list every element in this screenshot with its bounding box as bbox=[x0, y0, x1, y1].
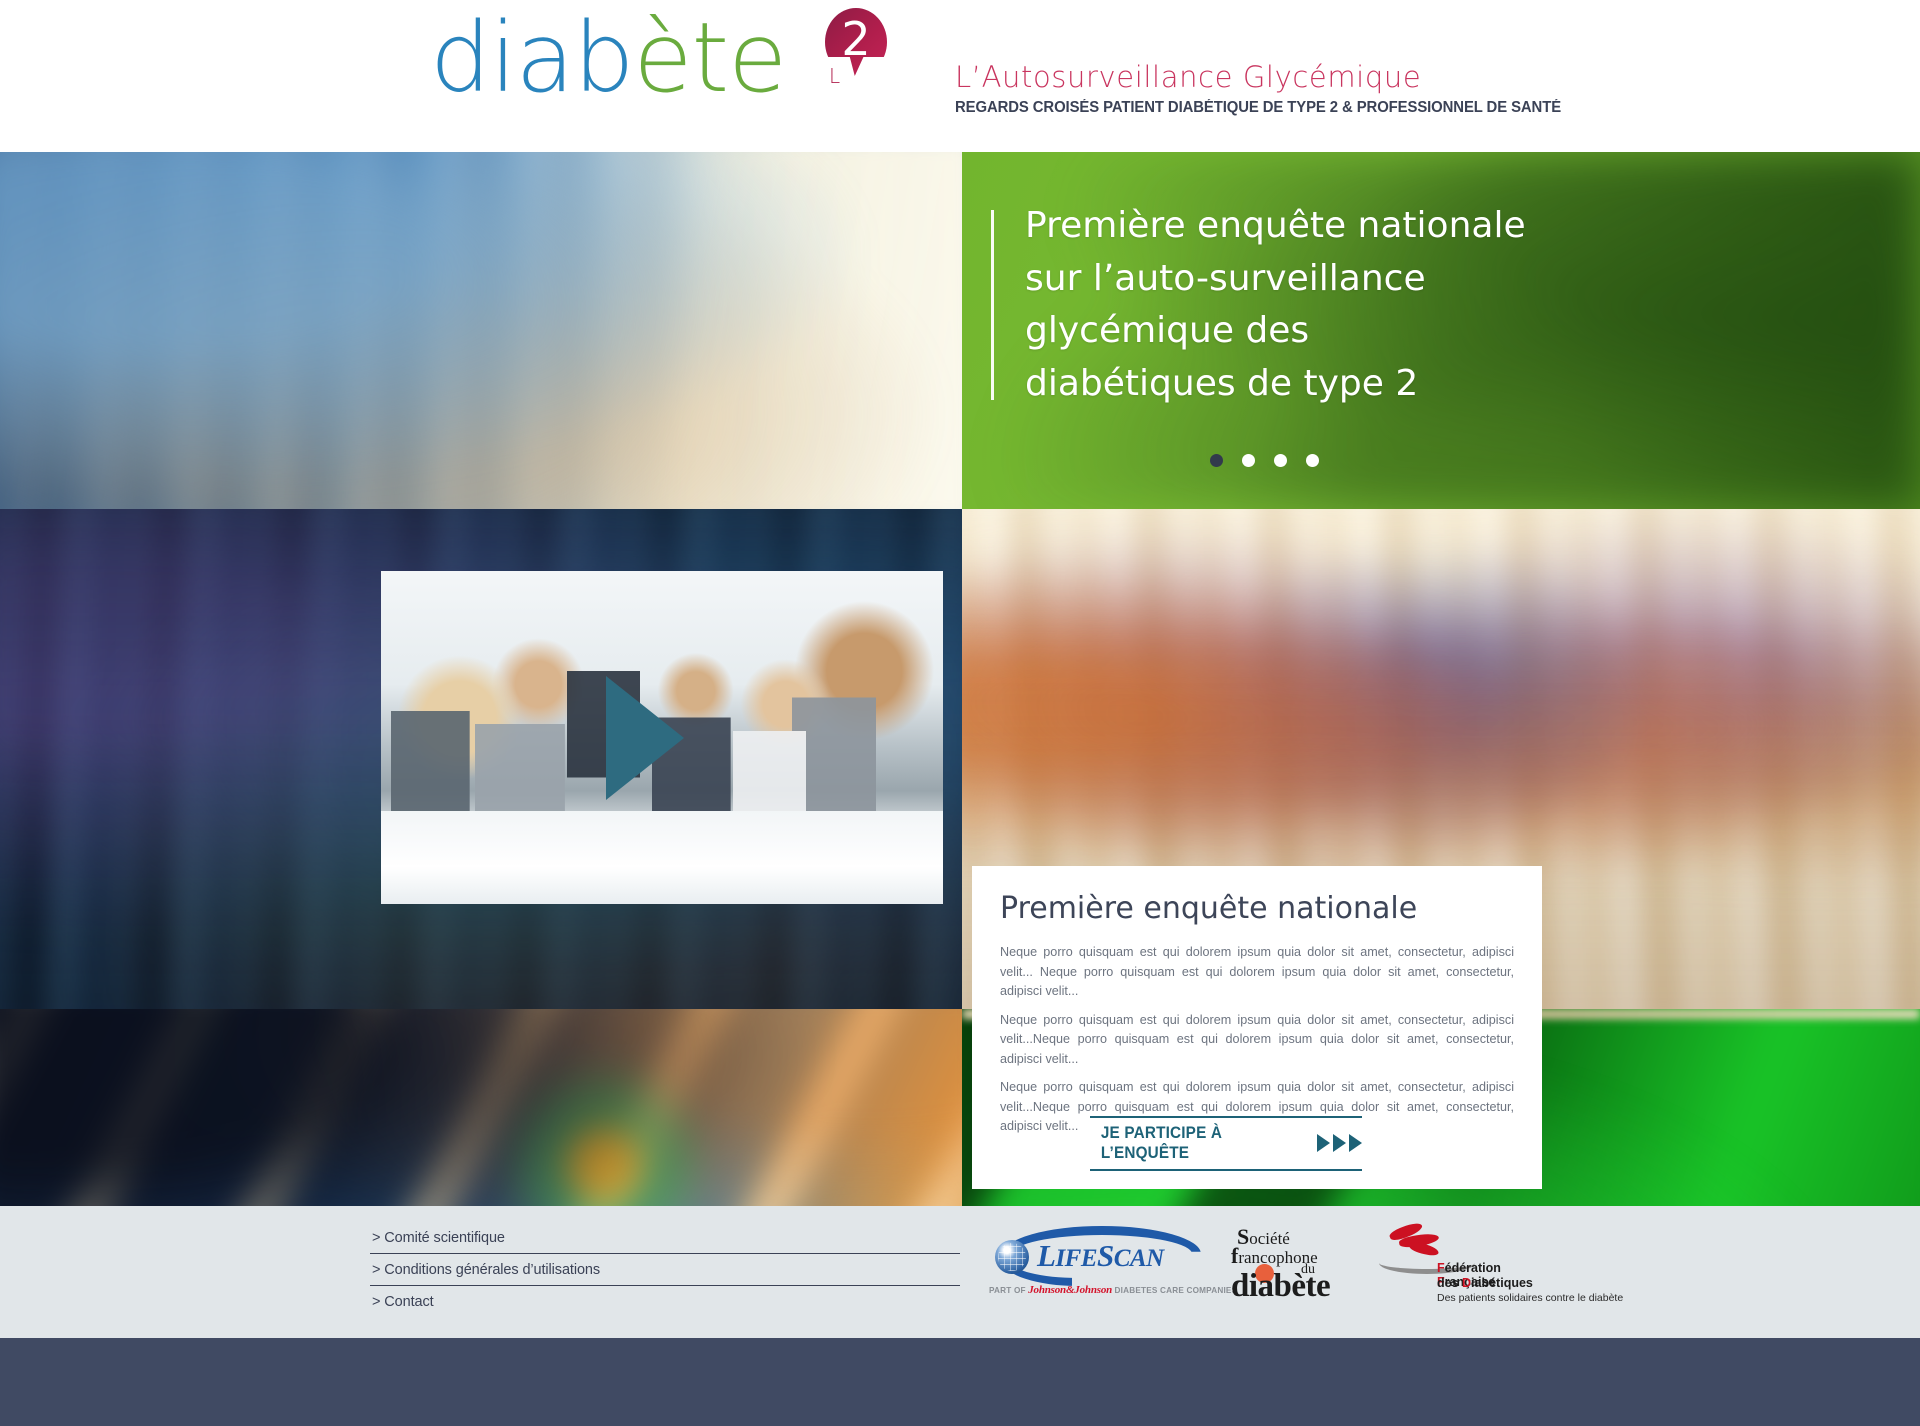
site-footer: > Comité scientifique > Conditions génér… bbox=[0, 1206, 1920, 1338]
participate-survey-label: JE PARTICIPE À L’ENQUÊTE bbox=[1101, 1123, 1296, 1163]
hero-accent-rule bbox=[991, 210, 994, 400]
lifescan-name-ife: IFE bbox=[1055, 1245, 1097, 1272]
hero-title-line-3: glycémique des bbox=[1025, 305, 1585, 358]
logo-wordmark: diabète bbox=[430, 10, 786, 106]
ffd-l1-a: F bbox=[1437, 1261, 1445, 1275]
card-title: Première enquête nationale bbox=[1000, 892, 1514, 925]
logo-superscript-number: 2 bbox=[841, 16, 870, 62]
logo-word-part1: diab bbox=[430, 2, 633, 114]
ffd-l2-b: D bbox=[1462, 1276, 1471, 1290]
carousel-dot-2[interactable] bbox=[1242, 454, 1255, 467]
participate-survey-button[interactable]: JE PARTICIPE À L’ENQUÊTE bbox=[1090, 1116, 1362, 1171]
hero-title-line-1: Première enquête nationale bbox=[1025, 200, 1585, 253]
page-root: diabète 2 L L’Autosurveillance Glycémiqu… bbox=[0, 0, 1920, 1426]
site-header: diabète 2 L L’Autosurveillance Glycémiqu… bbox=[0, 0, 1920, 152]
ffd-l2-a: des bbox=[1437, 1276, 1462, 1290]
hero-content: Première enquête nationale sur l’auto-su… bbox=[991, 200, 1920, 509]
site-logo[interactable]: diabète 2 L bbox=[430, 6, 900, 136]
lifescan-tagline-before: PART OF bbox=[989, 1286, 1026, 1295]
ffd-line-3: Des patients solidaires contre le diabèt… bbox=[1437, 1292, 1623, 1304]
lifescan-name-l: L bbox=[1037, 1238, 1055, 1273]
play-icon[interactable] bbox=[606, 676, 684, 800]
hero-banner: Première enquête nationale sur l’auto-su… bbox=[962, 152, 1920, 509]
globe-icon bbox=[995, 1240, 1029, 1274]
footer-link-comite-scientifique[interactable]: > Comité scientifique bbox=[370, 1222, 960, 1254]
lifescan-tagline: PART OF Johnson&Johnson DIABETES CARE CO… bbox=[989, 1284, 1237, 1296]
hero-title-line-2: sur l’auto-surveillance bbox=[1025, 253, 1585, 306]
sfd-logo[interactable]: Société francophone du diabète bbox=[1231, 1224, 1355, 1302]
ffd-line-2: des Diabétiques bbox=[1437, 1276, 1533, 1290]
logo-l-mark: L bbox=[829, 64, 840, 88]
ffd-l2-c: iabétiques bbox=[1471, 1276, 1533, 1290]
logo-word-part2: ète bbox=[633, 2, 786, 114]
footer-link-conditions-generales[interactable]: > Conditions générales d’utilisations bbox=[370, 1254, 960, 1286]
footer-links: > Comité scientifique > Conditions génér… bbox=[370, 1222, 960, 1317]
header-tagline: L’Autosurveillance Glycémique REGARDS CR… bbox=[955, 62, 1695, 117]
lifescan-name-can: CAN bbox=[1114, 1245, 1164, 1272]
mosaic-grid: Première enquête nationale sur l’auto-su… bbox=[0, 152, 1920, 1206]
card-paragraph: Neque porro quisquam est qui dolorem ips… bbox=[1000, 1011, 1514, 1070]
triple-arrow-icon bbox=[1317, 1134, 1362, 1152]
logo-superscript-badge: 2 L bbox=[825, 8, 887, 76]
carousel-dots[interactable] bbox=[1210, 454, 1319, 467]
building-layer-c bbox=[0, 152, 962, 509]
footer-link-contact[interactable]: > Contact bbox=[370, 1286, 960, 1317]
tile-building-photo bbox=[0, 152, 962, 509]
video-thumbnail[interactable] bbox=[381, 571, 943, 904]
carousel-dot-4[interactable] bbox=[1306, 454, 1319, 467]
survey-card: Première enquête nationale Neque porro q… bbox=[972, 866, 1542, 1189]
lifescan-logo[interactable]: LIFESCAN PART OF Johnson&Johnson DIABETE… bbox=[985, 1224, 1207, 1302]
johnson-johnson-wordmark: Johnson&Johnson bbox=[1028, 1284, 1112, 1296]
ffd-l1-b: édération bbox=[1445, 1261, 1501, 1275]
lifescan-tagline-after: DIABETES CARE COMPANIES bbox=[1115, 1286, 1238, 1295]
carousel-dot-3[interactable] bbox=[1274, 454, 1287, 467]
video-thumbnail-table bbox=[381, 811, 943, 904]
contact-bar bbox=[0, 1338, 1920, 1426]
lifescan-wordmark: LIFESCAN bbox=[1037, 1238, 1164, 1274]
tagline-primary: L’Autosurveillance Glycémique bbox=[955, 62, 1695, 94]
carousel-dot-1[interactable] bbox=[1210, 454, 1223, 467]
card-paragraph: Neque porro quisquam est qui dolorem ips… bbox=[1000, 943, 1514, 1002]
lifescan-name-s: S bbox=[1097, 1238, 1114, 1273]
hero-title-line-4: diabétiques de type 2 bbox=[1025, 358, 1585, 411]
partner-logos: LIFESCAN PART OF Johnson&Johnson DIABETE… bbox=[985, 1224, 1553, 1304]
sfd-line-3: diabète bbox=[1231, 1268, 1330, 1305]
tagline-secondary: REGARDS CROISÉS PATIENT DIABÉTIQUE DE TY… bbox=[955, 99, 1665, 117]
ffd-logo[interactable]: Fédération Française des Diabétiques Des… bbox=[1379, 1224, 1553, 1304]
hero-title: Première enquête nationale sur l’auto-su… bbox=[1025, 200, 1585, 410]
tile-dark-crowd-photo bbox=[0, 509, 962, 1009]
